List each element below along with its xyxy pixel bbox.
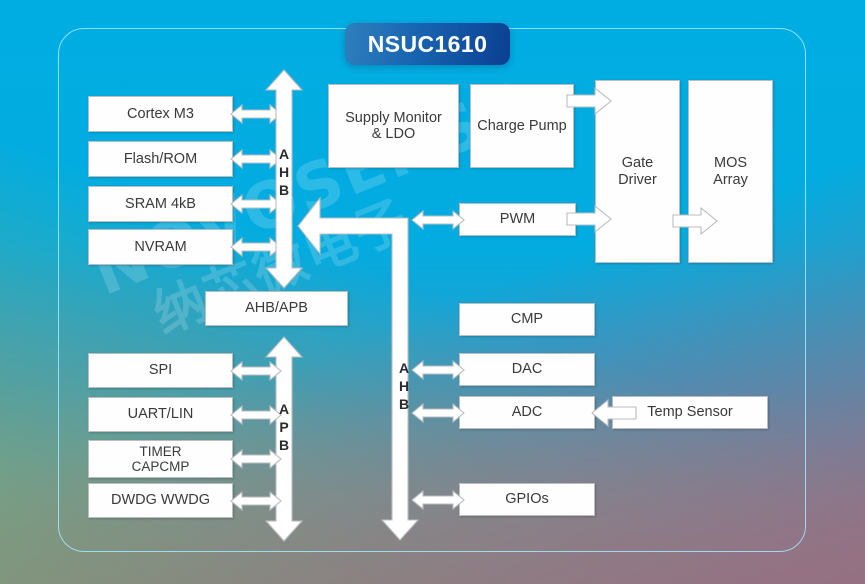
arrow-ahb-to-adc bbox=[412, 402, 464, 424]
arrow-ahb-to-dac bbox=[412, 359, 464, 381]
block-adc[interactable]: ADC bbox=[459, 396, 595, 429]
arrow-pwm-to-gate-driver bbox=[567, 206, 611, 232]
block-timer-capcmp[interactable]: TIMERCAPCMP bbox=[88, 440, 233, 478]
arrow-spi-to-apb bbox=[231, 360, 281, 382]
bus-label-ahb-left: AHB bbox=[272, 146, 296, 200]
arrow-ahb-to-gpios bbox=[412, 489, 464, 511]
block-flash-rom[interactable]: Flash/ROM bbox=[88, 141, 233, 177]
block-sram-4kb[interactable]: SRAM 4kB bbox=[88, 186, 233, 222]
block-cortex-m3[interactable]: Cortex M3 bbox=[88, 96, 233, 132]
block-dac[interactable]: DAC bbox=[459, 353, 595, 386]
block-supply-monitor-ldo[interactable]: Supply Monitor& LDO bbox=[328, 84, 459, 168]
arrow-ahb-to-pwm bbox=[412, 209, 464, 231]
block-charge-pump[interactable]: Charge Pump bbox=[470, 84, 574, 168]
arrow-temp-sensor-to-adc bbox=[592, 400, 636, 426]
block-pwm[interactable]: PWM bbox=[459, 203, 576, 236]
bus-label-ahb-middle: AHB bbox=[392, 360, 416, 414]
block-mos-array[interactable]: MOSArray bbox=[688, 80, 773, 263]
arrow-charge-pump-to-gate-driver bbox=[567, 88, 611, 114]
bus-label-apb-left: APB bbox=[272, 401, 296, 455]
arrow-gate-driver-to-mos-array bbox=[673, 208, 717, 234]
chip-title-badge: NSUC1610 bbox=[345, 23, 510, 65]
block-cmp[interactable]: CMP bbox=[459, 303, 595, 336]
diagram-canvas: NOVOSENSE 纳芯微电子 NSUC1610 Cortex M3 Flash… bbox=[0, 0, 865, 584]
block-spi[interactable]: SPI bbox=[88, 353, 233, 388]
block-dwdg-wwdg[interactable]: DWDG WWDG bbox=[88, 483, 233, 518]
arrow-dwdg-to-apb bbox=[231, 490, 281, 512]
block-uart-lin[interactable]: UART/LIN bbox=[88, 397, 233, 432]
block-nvram[interactable]: NVRAM bbox=[88, 229, 233, 265]
block-gpios[interactable]: GPIOs bbox=[459, 483, 595, 516]
